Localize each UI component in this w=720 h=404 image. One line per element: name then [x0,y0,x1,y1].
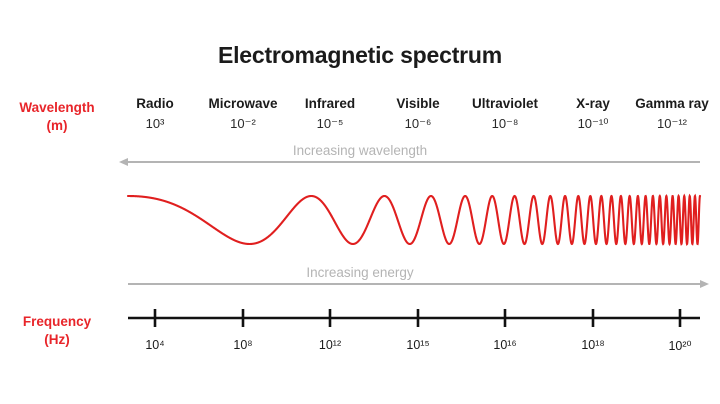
spectrum-band: Ultraviolet10⁻⁸ [472,96,538,133]
spectrum-band: X-ray10⁻¹⁰ [576,96,610,133]
band-name: Gamma ray [635,96,709,113]
band-wavelength-value: 10⁻² [208,115,277,133]
band-name: Radio [136,96,174,113]
band-name: Microwave [208,96,277,113]
spectrum-band: Gamma ray10⁻¹² [635,96,709,133]
spectrum-band: Radio10³ [136,96,174,133]
band-name: X-ray [576,96,610,113]
frequency-tick-label: 10⁴ [145,338,164,352]
increasing-wavelength-caption: Increasing wavelength [0,143,720,158]
electromagnetic-wave [128,196,700,244]
band-name: Infrared [305,96,355,113]
band-wavelength-value: 10⁻¹⁰ [576,115,610,133]
frequency-tick-label: 10⁸ [233,338,252,352]
band-wavelength-value: 10⁻⁶ [396,115,439,133]
band-wavelength-value: 10⁻⁵ [305,115,355,133]
frequency-tick-label: 10¹⁵ [406,338,429,352]
band-name: Visible [396,96,439,113]
frequency-tick-label: 10¹² [319,338,341,352]
band-wavelength-value: 10⁻¹² [635,115,709,133]
spectrum-band: Visible10⁻⁶ [396,96,439,133]
frequency-axis-name: Frequency [23,314,91,329]
band-wavelength-value: 10³ [136,115,174,133]
frequency-tick-label: 10²⁰ [668,338,691,353]
band-name: Ultraviolet [472,96,538,113]
frequency-tick-label: 10¹⁸ [581,338,604,352]
band-wavelength-value: 10⁻⁸ [472,115,538,133]
increasing-energy-caption: Increasing energy [0,265,720,280]
spectrum-band: Microwave10⁻² [208,96,277,133]
spectrum-band: Infrared10⁻⁵ [305,96,355,133]
page-title: Electromagnetic spectrum [0,42,720,69]
frequency-tick-label: 10¹⁶ [493,338,516,352]
frequency-tick-labels: 10⁴10⁸10¹²10¹⁵10¹⁶10¹⁸10²⁰ [0,338,720,360]
spectrum-band-labels: Radio10³Microwave10⁻²Infrared10⁻⁵Visible… [0,96,720,136]
